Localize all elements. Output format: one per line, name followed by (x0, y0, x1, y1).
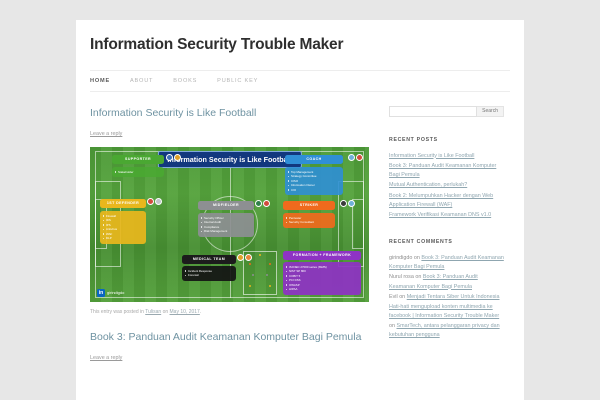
comment-on-label: on (399, 294, 405, 300)
post-meta-prefix: This entry was posted in (90, 309, 144, 315)
recent-posts-title: Recent Posts (389, 137, 504, 143)
post-category-link[interactable]: Tulisan (145, 309, 161, 315)
linkedin-icon: in (97, 289, 105, 297)
infographic-panel-supporter: Stakeholder (112, 167, 164, 178)
infographic-tag-medical-team: MEDICAL TEAM (182, 255, 236, 264)
infographic-tag-midfielder: MIDFIELDER (198, 201, 254, 210)
list-item: Evil on Menjadi Tentara Siber Untuk Indo… (389, 293, 504, 302)
post-article-1: Information Security is Like Football Le… (90, 106, 375, 317)
infographic-panel-medical-team: Incident Response Forensic (182, 266, 236, 281)
comment-on-label: on (389, 323, 395, 329)
formation-dot (269, 263, 271, 265)
player-avatar-icon (255, 200, 262, 207)
infographic-mini-formation-diagram (243, 251, 277, 295)
list-item: Information Security is Like Football (389, 152, 504, 161)
recent-comments-title: Recent Comments (389, 239, 504, 245)
site-title: Information Security Trouble Maker (90, 36, 510, 55)
formation-dot (249, 285, 251, 287)
comment-author: girindigdo (389, 255, 412, 261)
player-avatars-defender (147, 198, 162, 205)
comment-post-link[interactable]: Menjadi Tentara Siber Untuk Indonesia (407, 294, 500, 300)
comment-author[interactable]: Hati-hati mengupload konten multimedia k… (389, 304, 499, 319)
sidebar: Search Recent Posts Information Security… (389, 106, 504, 376)
player-avatar-icon (174, 154, 181, 161)
infographic-tag-formation-framework: FORMATION + FRAMEWORK (283, 251, 361, 260)
comment-on-label: on (415, 274, 421, 280)
player-avatar-icon (356, 154, 363, 161)
post-featured-image-football-infographic[interactable]: Information Security is Like Football SU… (90, 147, 369, 302)
midfielder-item-list: Security Officer Internal Audit Complian… (204, 216, 251, 234)
list-item: Mutual Authentication, perlukah? (389, 181, 504, 190)
comment-post-link[interactable]: SmarTech, antara pelanggaran privacy dan… (389, 323, 500, 338)
coach-item: CIO (291, 188, 340, 193)
comment-on-label: on (414, 255, 420, 261)
nav-item-home[interactable]: HOME (90, 78, 110, 84)
post-reply-link-1: Leave a reply (90, 131, 375, 137)
player-avatar-icon (166, 154, 173, 161)
formation-dot (249, 263, 251, 265)
player-avatar-icon (263, 200, 270, 207)
infographic-tag-defender: 1st DEFENDER (100, 199, 146, 208)
defender-item-list: Firewall IDS IPS Antivirus WAF DLP (106, 214, 143, 241)
post-meta-middle: on (163, 309, 169, 315)
recent-comments-list: girindigdo on Book 3: Panduan Audit Keam… (389, 254, 504, 341)
search-input[interactable] (389, 106, 477, 117)
midfielder-item: Risk Management (204, 229, 251, 234)
player-avatar-icon (147, 198, 154, 205)
post-article-2: Book 3: Panduan Audit Keamanan Komputer … (90, 330, 375, 361)
nav-item-about[interactable]: ABOUT (130, 78, 153, 84)
leave-a-reply-link-2[interactable]: Leave a reply (90, 355, 122, 361)
linkedin-credit: in girindigdo (97, 289, 124, 297)
supporter-item-list: Stakeholder (118, 170, 161, 175)
search-widget: Search (389, 106, 504, 117)
comment-author: Nurul rosa (389, 274, 414, 280)
list-item: Nurul rosa on Book 3: Panduan Audit Keam… (389, 273, 504, 292)
post-title-1[interactable]: Information Security is Like Football (90, 106, 375, 120)
recent-post-link[interactable]: Information Security is Like Football (389, 153, 474, 159)
list-item: Hati-hati mengupload konten multimedia k… (389, 303, 504, 340)
supporter-item: Stakeholder (118, 170, 161, 175)
post-title-2[interactable]: Book 3: Panduan Audit Keamanan Komputer … (90, 330, 375, 344)
striker-item: Security Consultant (289, 220, 332, 225)
player-avatar-icon (340, 200, 347, 207)
framework-item-list: ISO/IEC 27000 series (ISMS) NIST SP 800 … (289, 265, 358, 292)
recent-post-link[interactable]: Book 2: Melumpuhkan Hacker dengan Web Ap… (389, 193, 493, 208)
nav-list: HOME ABOUT BOOKS PUBLIC KEY (90, 78, 510, 84)
nav-item-books[interactable]: BOOKS (173, 78, 197, 84)
comment-author: Evil (389, 294, 398, 300)
infographic-panel-coach: Top Management Strategy Committee CISO I… (285, 167, 343, 196)
formation-dot (266, 274, 268, 276)
striker-item-list: Pentester Security Consultant (289, 216, 332, 225)
main-content: Information Security is Like Football Le… (90, 106, 375, 376)
infographic-tag-supporter: SUPPORTER (112, 155, 164, 164)
recent-posts-widget: Recent Posts Information Security is Lik… (389, 137, 504, 221)
infographic-panel-formation-framework: ISO/IEC 27000 series (ISMS) NIST SP 800 … (283, 262, 361, 295)
framework-item: HIPAA (289, 287, 358, 292)
site-container: Information Security Trouble Maker HOME … (76, 20, 524, 400)
content-wrapper: Information Security is Like Football Le… (76, 92, 524, 376)
formation-dot (252, 274, 254, 276)
recent-post-link[interactable]: Framework Verifikasi Keamanan DNS v1.0 (389, 212, 491, 218)
infographic-tag-striker: STRIKER (283, 201, 335, 210)
primary-navigation: HOME ABOUT BOOKS PUBLIC KEY (90, 70, 510, 92)
recent-comments-widget: Recent Comments girindigdo on Book 3: Pa… (389, 239, 504, 341)
coach-item-list: Top Management Strategy Committee CISO I… (291, 170, 340, 193)
defender-item: DLP (106, 236, 143, 241)
infographic-panel-midfielder: Security Officer Internal Audit Complian… (198, 213, 254, 237)
infographic-tag-coach: COACH (285, 155, 343, 164)
player-avatars-striker (340, 200, 355, 207)
post-meta-suffix: . (200, 309, 201, 315)
player-avatars-supporter (166, 154, 181, 161)
list-item: Book 3: Panduan Audit Keamanan Komputer … (389, 162, 504, 181)
leave-a-reply-link-1[interactable]: Leave a reply (90, 131, 122, 137)
formation-dot (259, 254, 261, 256)
player-avatar-icon (348, 154, 355, 161)
post-date-link[interactable]: May 10, 2017 (170, 309, 200, 315)
player-avatars-midfielder (255, 200, 270, 207)
infographic-panel-striker: Pentester Security Consultant (283, 213, 335, 228)
list-item: girindigdo on Book 3: Panduan Audit Keam… (389, 254, 504, 273)
recent-posts-list: Information Security is Like Football Bo… (389, 152, 504, 221)
recent-post-link[interactable]: Mutual Authentication, perlukah? (389, 182, 467, 188)
post-reply-link-2: Leave a reply (90, 355, 375, 361)
post-meta-1: This entry was posted in Tulisan on May … (90, 309, 375, 317)
list-item: Book 2: Melumpuhkan Hacker dengan Web Ap… (389, 192, 504, 211)
player-avatars-coach (348, 154, 363, 161)
site-header: Information Security Trouble Maker HOME … (76, 20, 524, 92)
recent-post-link[interactable]: Book 3: Panduan Audit Keamanan Komputer … (389, 163, 496, 178)
nav-item-public-key[interactable]: PUBLIC KEY (217, 78, 258, 84)
linkedin-author-name: girindigdo (107, 290, 124, 295)
formation-dot (269, 285, 271, 287)
infographic-panel-defender: Firewall IDS IPS Antivirus WAF DLP (100, 211, 146, 244)
list-item: Framework Verifikasi Keamanan DNS v1.0 (389, 211, 504, 220)
player-avatar-icon (348, 200, 355, 207)
medical-team-item: Forensic (188, 273, 233, 278)
search-button[interactable]: Search (477, 106, 504, 117)
medical-team-item-list: Incident Response Forensic (188, 269, 233, 278)
player-avatar-icon (155, 198, 162, 205)
